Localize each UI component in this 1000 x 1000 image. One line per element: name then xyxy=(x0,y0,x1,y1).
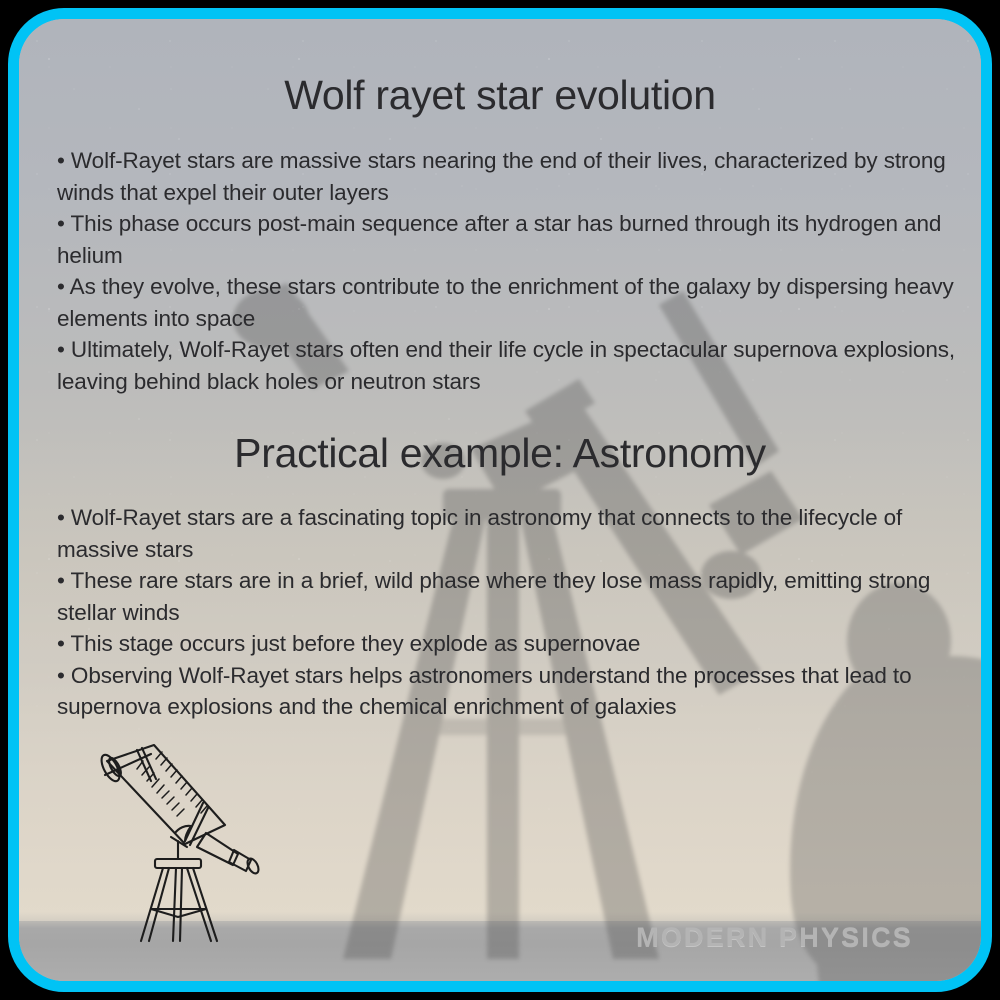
telescope-icon xyxy=(93,737,309,949)
slide-canvas: Wolf rayet star evolution • Wolf-Rayet s… xyxy=(0,0,1000,1000)
slide-content: Wolf rayet star evolution • Wolf-Rayet s… xyxy=(19,19,981,981)
list-item: • Ultimately, Wolf-Rayet stars often end… xyxy=(57,334,981,397)
bullet-list-overview: • Wolf-Rayet stars are massive stars nea… xyxy=(57,145,981,397)
page-title: Wolf rayet star evolution xyxy=(19,72,981,119)
list-item: • Wolf-Rayet stars are massive stars nea… xyxy=(57,145,981,208)
list-item: • Observing Wolf-Rayet stars helps astro… xyxy=(57,660,981,723)
list-item: • These rare stars are in a brief, wild … xyxy=(57,565,981,628)
section-subheading: Practical example: Astronomy xyxy=(19,430,981,477)
bullet-list-practical-example: • Wolf-Rayet stars are a fascinating top… xyxy=(57,502,981,723)
list-item: • Wolf-Rayet stars are a fascinating top… xyxy=(57,502,981,565)
list-item: • As they evolve, these stars contribute… xyxy=(57,271,981,334)
list-item: • This phase occurs post-main sequence a… xyxy=(57,208,981,271)
slide-card: Wolf rayet star evolution • Wolf-Rayet s… xyxy=(8,8,992,992)
list-item: • This stage occurs just before they exp… xyxy=(57,628,981,660)
watermark-label: MODERN PHYSICS xyxy=(636,922,913,953)
